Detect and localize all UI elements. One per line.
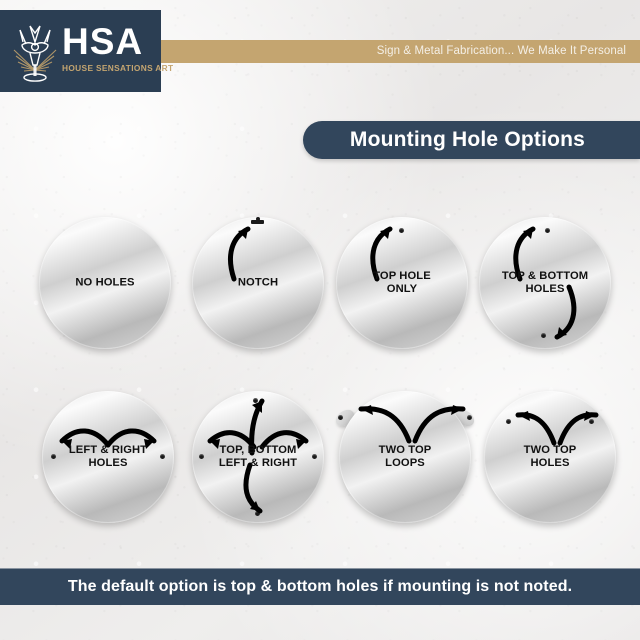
tagline-text: Sign & Metal Fabrication... We Make It P…	[377, 40, 626, 63]
brand-subtitle: HOUSE SENSATIONS ART	[62, 62, 155, 74]
brand-initials: HSA	[62, 22, 158, 62]
brand-logo-box: HSA HOUSE SENSATIONS ART	[0, 10, 161, 92]
disc: NOTCH	[192, 217, 324, 349]
footer-note-bar: The default option is top & bottom holes…	[0, 568, 640, 605]
option-label: NOTCH	[191, 277, 325, 290]
disc: TWO TOP HOLES	[484, 391, 616, 523]
disc: TOP, BOTTOM LEFT & RIGHT	[192, 391, 324, 523]
option-label: TOP & BOTTOM HOLES	[478, 270, 612, 296]
option-top-bottom-left-right[interactable]: TOP, BOTTOM LEFT & RIGHT	[178, 370, 338, 544]
options-grid: NO HOLES NOTCH	[0, 196, 640, 544]
disc: LEFT & RIGHT HOLES	[42, 391, 174, 523]
page-title-pill: Mounting Hole Options	[303, 121, 640, 159]
option-label: TOP, BOTTOM LEFT & RIGHT	[191, 444, 325, 470]
infographic-page: Sign & Metal Fabrication... We Make It P…	[0, 0, 640, 640]
option-label: TOP HOLE ONLY	[335, 270, 469, 296]
option-two-top-loops[interactable]: TWO TOP LOOPS	[325, 370, 485, 544]
option-top-bottom-holes[interactable]: TOP & BOTTOM HOLES	[465, 196, 625, 370]
option-label: TWO TOP HOLES	[483, 444, 617, 470]
lotus-torch-emblem-icon	[8, 20, 62, 84]
disc: NO HOLES	[39, 217, 171, 349]
footer-note: The default option is top & bottom holes…	[0, 569, 640, 605]
disc: TWO TOP LOOPS	[339, 391, 471, 523]
disc: TOP & BOTTOM HOLES	[479, 217, 611, 349]
disc: TOP HOLE ONLY	[336, 217, 468, 349]
page-title: Mounting Hole Options	[303, 121, 640, 159]
option-top-hole-only[interactable]: TOP HOLE ONLY	[322, 196, 482, 370]
brand-wordmark: HSA HOUSE SENSATIONS ART	[62, 22, 158, 74]
option-label: LEFT & RIGHT HOLES	[41, 444, 175, 470]
option-label: NO HOLES	[38, 277, 172, 290]
option-label: TWO TOP LOOPS	[338, 444, 472, 470]
option-notch[interactable]: NOTCH	[178, 196, 338, 370]
option-two-top-holes[interactable]: TWO TOP HOLES	[470, 370, 630, 544]
option-left-right-holes[interactable]: LEFT & RIGHT HOLES	[28, 370, 188, 544]
option-no-holes[interactable]: NO HOLES	[25, 196, 185, 370]
